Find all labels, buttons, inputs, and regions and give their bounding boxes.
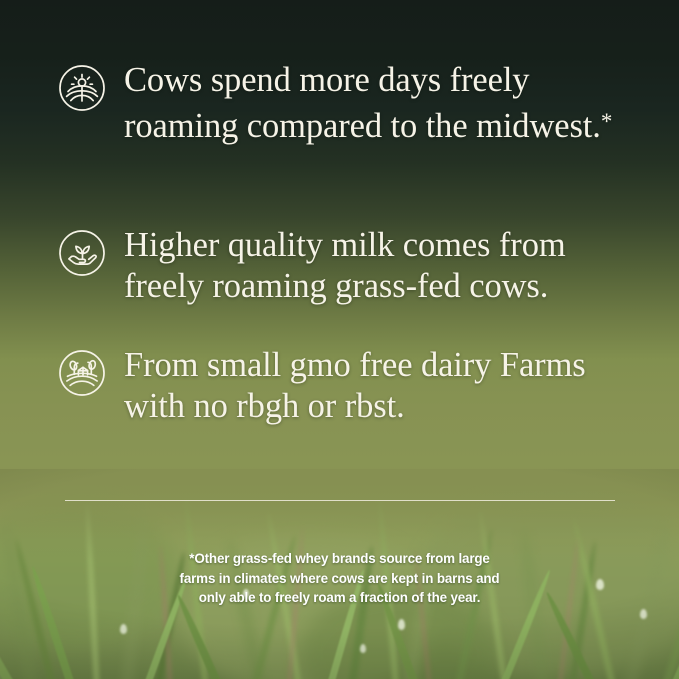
- footnote-line: *Other grass-fed whey brands source from…: [125, 549, 555, 569]
- benefit-text-1: Cows spend more days freely roaming comp…: [124, 60, 649, 147]
- benefit-line: freely roaming grass-fed cows.: [124, 267, 548, 305]
- poster-content: Cows spend more days freely roaming comp…: [0, 0, 679, 679]
- benefit-line: Cows spend more days freely: [124, 61, 529, 99]
- benefit-line: From small gmo free dairy: [124, 346, 491, 384]
- benefit-item-2: Higher quality milk comes from freely ro…: [58, 225, 649, 307]
- footnote-line: farms in climates where cows are kept in…: [125, 569, 555, 589]
- poster-canvas: Cows spend more days freely roaming comp…: [0, 0, 679, 679]
- benefit-text-2: Higher quality milk comes from freely ro…: [124, 225, 649, 307]
- benefit-text-3: From small gmo free dairy Farms with no …: [124, 345, 649, 427]
- benefit-line: midwest.: [476, 107, 601, 145]
- footnote-disclaimer: *Other grass-fed whey brands source from…: [125, 549, 555, 608]
- benefit-item-1: Cows spend more days freely roaming comp…: [58, 60, 649, 147]
- benefit-item-3: From small gmo free dairy Farms with no …: [58, 345, 649, 427]
- benefit-line: Higher quality milk comes from: [124, 226, 566, 264]
- hand-holding-sprout-icon: [58, 229, 106, 277]
- benefit-line: roaming compared to the: [124, 107, 468, 145]
- sun-over-field-icon: [58, 64, 106, 112]
- asterisk-marker: *: [601, 109, 612, 134]
- horizontal-divider: [65, 500, 615, 501]
- footnote-line: only able to freely roam a fraction of t…: [125, 588, 555, 608]
- farm-with-trees-icon: [58, 349, 106, 397]
